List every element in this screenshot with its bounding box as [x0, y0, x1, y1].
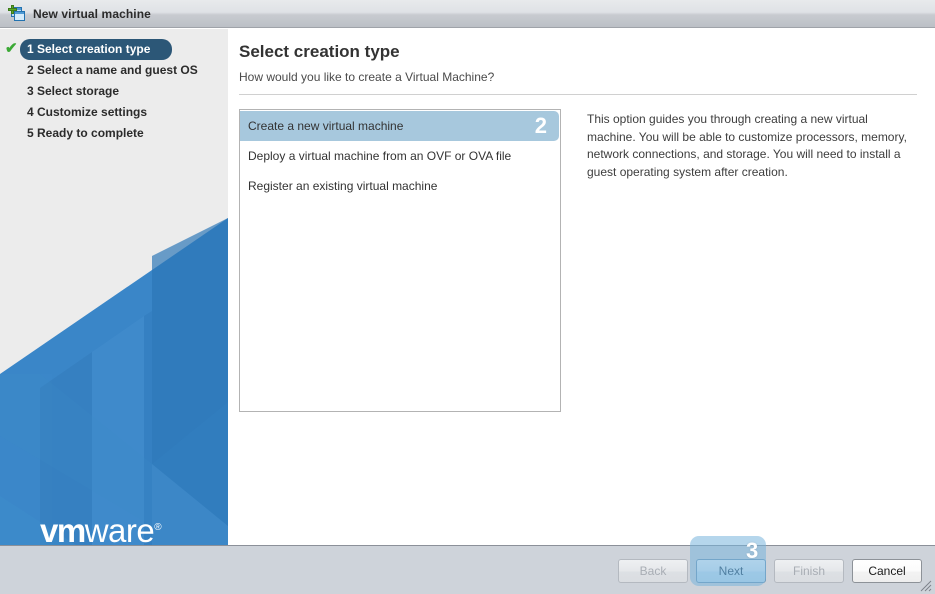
header-divider: [239, 94, 917, 95]
vmware-logo-vm: vm: [40, 512, 85, 549]
list-item-create-new-vm[interactable]: Create a new virtual machine 2: [240, 111, 559, 141]
page-subtitle: How would you like to create a Virtual M…: [236, 70, 921, 85]
wizard-button-row: Back Next Finish Cancel: [618, 559, 922, 583]
sidebar-step-5-label: 5 Ready to complete: [20, 123, 154, 144]
wizard-content-pane: Select creation type How would you like …: [228, 29, 935, 545]
next-button[interactable]: Next: [696, 559, 766, 583]
new-virtual-machine-wizard: New virtual machine: [0, 0, 935, 594]
list-item-register-existing-vm[interactable]: Register an existing virtual machine: [240, 171, 560, 201]
sidebar-step-5[interactable]: 5 Ready to complete: [0, 123, 228, 144]
sidebar-step-3[interactable]: 3 Select storage: [0, 81, 228, 102]
wizard-footer: Back Next Finish Cancel: [0, 545, 935, 594]
sidebar-step-4-label: 4 Customize settings: [20, 102, 157, 123]
vmware-logo-ware: ware: [85, 512, 155, 549]
sidebar-step-2[interactable]: 2 Select a name and guest OS: [0, 60, 228, 81]
annotation-marker-2: 2: [535, 115, 547, 137]
window-title: New virtual machine: [33, 7, 151, 21]
sidebar-step-4[interactable]: 4 Customize settings: [0, 102, 228, 123]
cancel-button[interactable]: Cancel: [852, 559, 922, 583]
plus-icon: [8, 5, 17, 14]
sidebar-step-3-label: 3 Select storage: [20, 81, 129, 102]
creation-type-listbox[interactable]: Create a new virtual machine 2 Deploy a …: [239, 109, 561, 412]
new-virtual-machine-icon: [8, 5, 26, 23]
sidebar-step-1[interactable]: ✔ 1 Select creation type: [0, 39, 228, 60]
back-button[interactable]: Back: [618, 559, 688, 583]
creation-type-panes: Create a new virtual machine 2 Deploy a …: [239, 109, 921, 412]
finish-button[interactable]: Finish: [774, 559, 844, 583]
list-item-deploy-ovf-ova[interactable]: Deploy a virtual machine from an OVF or …: [240, 141, 560, 171]
vmware-logo: vmware®: [40, 514, 161, 547]
check-icon: ✔: [5, 42, 19, 56]
wizard-sidebar: vmware® ✔ 1 Select creation type 2 Selec…: [0, 29, 228, 594]
creation-type-description: This option guides you through creating …: [561, 109, 921, 412]
list-item-deploy-ovf-ova-label: Deploy a virtual machine from an OVF or …: [248, 149, 511, 163]
wizard-step-list: ✔ 1 Select creation type 2 Select a name…: [0, 39, 228, 144]
list-item-create-new-vm-label: Create a new virtual machine: [248, 119, 403, 133]
window-titlebar: New virtual machine: [0, 0, 935, 28]
registered-mark: ®: [154, 522, 161, 533]
page-title: Select creation type: [236, 41, 921, 63]
list-item-register-existing-vm-label: Register an existing virtual machine: [248, 179, 437, 193]
sidebar-step-1-label: 1 Select creation type: [20, 39, 172, 60]
resize-grip-icon[interactable]: [920, 579, 932, 591]
sidebar-step-2-label: 2 Select a name and guest OS: [20, 60, 208, 81]
